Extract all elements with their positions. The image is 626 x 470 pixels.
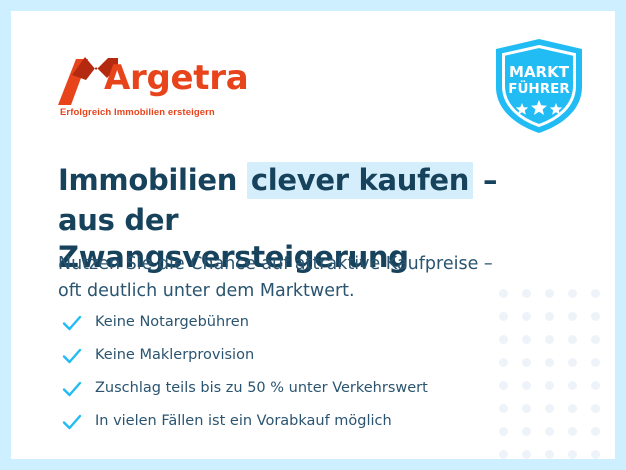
subheadline-line2: oft deutlich unter dem Marktwert.: [58, 278, 558, 305]
checklist-item-label: In vielen Fällen ist ein Vorabkauf mögli…: [95, 413, 392, 430]
markt-fuehrer-badge: MARKT FÜHRER: [496, 39, 582, 133]
check-icon: [61, 378, 95, 400]
dot-grid-dot: [522, 450, 531, 459]
dot-grid-dot: [545, 427, 554, 436]
checklist-item: In vielen Fällen ist ein Vorabkauf mögli…: [61, 405, 531, 438]
subheadline-line1: Nutzen Sie die Chance auf attraktive Kau…: [58, 251, 558, 278]
dot-grid-dot: [545, 358, 554, 367]
dot-grid-dot: [545, 335, 554, 344]
badge-line2-text: FÜHRER: [508, 79, 570, 97]
dot-grid-dot: [568, 289, 577, 298]
dot-grid-dot: [568, 358, 577, 367]
headline-highlight: clever kaufen: [247, 162, 473, 199]
checklist-item: Keine Notargebühren: [61, 306, 531, 339]
headline-part1: Immobilien: [58, 163, 247, 197]
dot-grid-dot: [568, 312, 577, 321]
dot-grid-dot: [568, 335, 577, 344]
checklist-item: Zuschlag teils bis zu 50 % unter Verkehr…: [61, 372, 531, 405]
dot-grid-dot: [568, 427, 577, 436]
dot-grid-dot: [568, 381, 577, 390]
dot-grid-dot: [545, 404, 554, 413]
dot-grid-dot: [545, 450, 554, 459]
dot-grid-dot: [568, 404, 577, 413]
dot-grid-dot: [499, 450, 508, 459]
checklist-item: Keine Maklerprovision: [61, 339, 531, 372]
dot-grid-dot: [591, 381, 600, 390]
dot-grid-dot: [545, 312, 554, 321]
dot-grid-dot: [591, 404, 600, 413]
dot-grid-dot: [591, 427, 600, 436]
logo-tagline: Erfolgreich Immobilien ersteigern: [60, 107, 215, 118]
dot-grid-dot: [568, 450, 577, 459]
dot-grid-dot: [591, 450, 600, 459]
dot-grid-dot: [591, 312, 600, 321]
check-icon: [61, 411, 95, 433]
dot-grid-dot: [545, 381, 554, 390]
badge-line1-text: MARKT: [509, 63, 570, 81]
dot-grid-dot: [591, 289, 600, 298]
dot-grid-dot: [591, 335, 600, 344]
logo-wordmark: Argetra: [104, 61, 248, 95]
headline-part2: –: [473, 163, 497, 197]
banner-canvas: Argetra Erfolgreich Immobilien ersteiger…: [11, 11, 615, 459]
subheadline: Nutzen Sie die Chance auf attraktive Kau…: [58, 251, 558, 305]
checklist-item-label: Keine Notargebühren: [95, 314, 249, 331]
check-icon: [61, 345, 95, 367]
benefits-checklist: Keine NotargebührenKeine Maklerprovision…: [61, 306, 531, 438]
promo-banner: Argetra Erfolgreich Immobilien ersteiger…: [0, 0, 626, 470]
argetra-logo[interactable]: Argetra Erfolgreich Immobilien ersteiger…: [58, 49, 268, 124]
dot-grid-row: [499, 450, 615, 459]
checklist-item-label: Keine Maklerprovision: [95, 347, 254, 364]
checklist-item-label: Zuschlag teils bis zu 50 % unter Verkehr…: [95, 380, 428, 397]
dot-grid-dot: [591, 358, 600, 367]
check-icon: [61, 312, 95, 334]
